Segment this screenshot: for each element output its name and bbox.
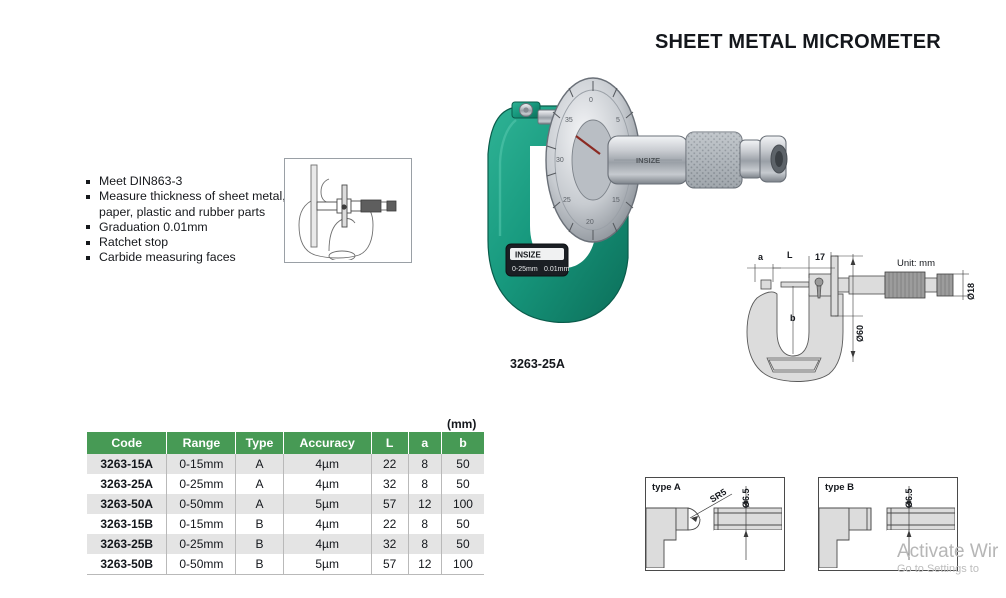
cell-range: 0-50mm [167,554,236,575]
list-item: Ratchet stop [86,235,286,250]
svg-text:35: 35 [565,117,573,124]
dimension-drawing-svg [735,250,1003,390]
cell-range: 0-50mm [167,494,236,514]
list-item: Measure thickness of sheet metal, paper,… [86,189,286,220]
cell-accuracy: 5µm [283,494,371,514]
cell-a: 12 [408,494,441,514]
table-unit-note: (mm) [447,417,476,431]
cell-code: 3263-50B [87,554,167,575]
dim-label-b: b [790,313,796,323]
table-row: 3263-50A 0-50mm A 5µm 57 12 100 [87,494,484,514]
cell-code: 3263-25A [87,474,167,494]
table-row: 3263-25A 0-25mm A 4µm 32 8 50 [87,474,484,494]
col-header-range: Range [167,432,236,454]
svg-text:15: 15 [612,197,620,204]
col-header-L: L [371,432,408,454]
spec-table-element: Code Range Type Accuracy L a b 3263-15A … [87,432,484,575]
dim-label-a: a [758,252,763,262]
list-item: Graduation 0.01mm [86,220,286,235]
bullet-square-icon [86,241,90,245]
windows-activation-watermark: Activate Wir Go to Settings to [897,541,1006,576]
cell-a: 8 [408,534,441,554]
svg-text:30: 30 [556,157,564,164]
cell-L: 57 [371,494,408,514]
cell-type: B [236,514,283,534]
col-header-code: Code [87,432,167,454]
col-header-b: b [441,432,484,454]
dim-label-dia60: Ø60 [855,325,865,342]
cell-accuracy: 4µm [283,454,371,474]
nameplate-brand: INSIZE [515,251,541,260]
ratchet-stop [740,136,787,182]
cell-b: 100 [441,494,484,514]
product-nameplate: INSIZE 0-25mm 0.01mm [506,244,569,276]
type-b-label: type B [825,482,854,493]
sleeve-brand-text: INSIZE [636,156,660,165]
cell-b: 100 [441,554,484,575]
table-header-row: Code Range Type Accuracy L a b [87,432,484,454]
cell-a: 8 [408,474,441,494]
cell-accuracy: 4µm [283,474,371,494]
cell-range: 0-25mm [167,534,236,554]
dim-label-17: 17 [815,252,825,262]
cell-accuracy: 5µm [283,554,371,575]
sleeve-barrel: INSIZE [608,136,688,184]
dim-label-dia18: Ø18 [966,283,976,300]
knurled-thimble [686,132,742,188]
type-a-dia-label: Ø6.5 [741,488,751,508]
type-b-dia-label: Ø6.5 [904,488,914,508]
cell-L: 22 [371,514,408,534]
cell-a: 8 [408,454,441,474]
cell-b: 50 [441,474,484,494]
watermark-line-1: Activate Wir [897,541,1006,562]
table-row: 3263-15B 0-15mm B 4µm 22 8 50 [87,514,484,534]
feature-text: Carbide measuring faces [99,250,236,264]
table-row: 3263-25B 0-25mm B 4µm 32 8 50 [87,534,484,554]
cell-L: 22 [371,454,408,474]
usage-line-art-svg [285,159,409,260]
cell-L: 32 [371,534,408,554]
watermark-line-2: Go to Settings to [897,562,1006,576]
svg-text:5: 5 [616,117,620,124]
bullet-square-icon [86,225,90,229]
col-header-type: Type [236,432,283,454]
anvil [512,102,540,118]
svg-text:0: 0 [589,97,593,104]
cell-a: 12 [408,554,441,575]
svg-text:20: 20 [586,219,594,226]
cell-range: 0-15mm [167,514,236,534]
cell-type: A [236,474,283,494]
dim-label-L: L [787,250,793,260]
col-header-accuracy: Accuracy [283,432,371,454]
cell-range: 0-15mm [167,454,236,474]
cell-code: 3263-15B [87,514,167,534]
cell-code: 3263-15A [87,454,167,474]
spec-table: Code Range Type Accuracy L a b 3263-15A … [87,432,484,575]
type-a-label: type A [652,482,681,493]
cell-type: A [236,454,283,474]
feature-text: Measure thickness of sheet metal, paper,… [99,189,286,218]
usage-illustration [284,158,412,263]
nameplate-range: 0-25mm [512,266,538,273]
cell-b: 50 [441,514,484,534]
table-row: 3263-50B 0-50mm B 5µm 57 12 100 [87,554,484,575]
col-header-a: a [408,432,441,454]
thimble-knurl [361,200,381,212]
table-row: 3263-15A 0-15mm A 4µm 22 8 50 [87,454,484,474]
type-a-detail-panel: type A SR5 Ø6.5 [645,477,785,571]
cell-a: 8 [408,514,441,534]
bullet-square-icon [86,195,90,199]
nameplate-graduation: 0.01mm [544,266,569,273]
cell-L: 57 [371,554,408,575]
list-item: Meet DIN863-3 [86,174,286,189]
dimension-drawing: a L 17 b Ø60 Ø18 [735,250,1003,390]
cell-accuracy: 4µm [283,514,371,534]
feature-text: Graduation 0.01mm [99,220,208,234]
bullet-square-icon [86,180,90,184]
cell-L: 32 [371,474,408,494]
bullet-square-icon [86,256,90,260]
feature-text: Ratchet stop [99,235,168,249]
cell-type: B [236,554,283,575]
list-item: Carbide measuring faces [86,250,286,265]
cell-range: 0-25mm [167,474,236,494]
cell-b: 50 [441,534,484,554]
cell-code: 3263-25B [87,534,167,554]
cell-b: 50 [441,454,484,474]
svg-text:25: 25 [563,197,571,204]
product-caption: 3263-25A [510,357,565,371]
cell-type: A [236,494,283,514]
feature-text: Meet DIN863-3 [99,174,182,188]
cell-type: B [236,534,283,554]
cell-code: 3263-50A [87,494,167,514]
feature-list: Meet DIN863-3 Measure thickness of sheet… [86,174,286,266]
cell-accuracy: 4µm [283,534,371,554]
